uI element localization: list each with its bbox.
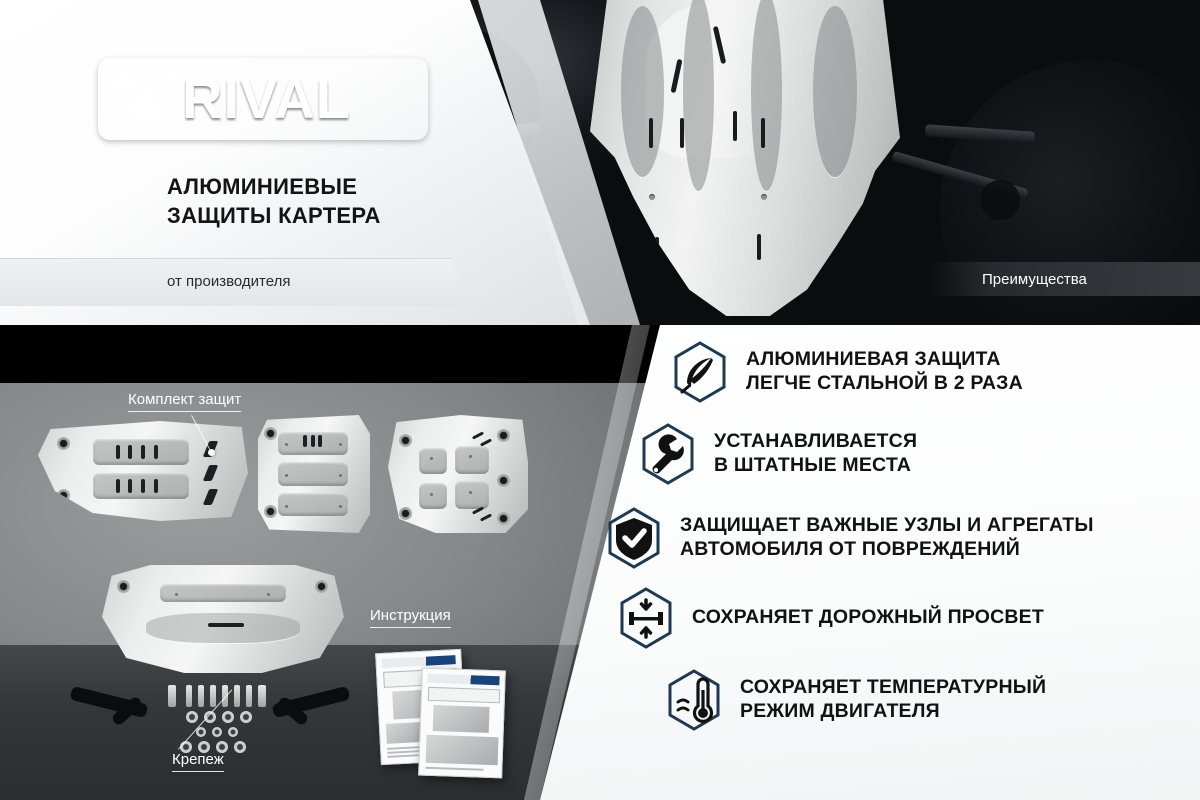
washer <box>228 727 238 737</box>
advantage-text: СОХРАНЯЕТ ДОРОЖНЫЙ ПРОСВЕТ <box>692 606 1044 630</box>
callout-fasteners: Крепеж <box>172 751 224 772</box>
bolt <box>234 685 240 707</box>
advantage-line1: СОХРАНЯЕТ ТЕМПЕРАТУРНЫЙ <box>740 676 1046 700</box>
advantage-line1: ЗАЩИЩАЕТ ВАЖНЫЕ УЗЛЫ И АГРЕГАТЫ <box>680 514 1094 538</box>
molecule-icon <box>110 66 184 132</box>
wheel-arch <box>940 60 1200 340</box>
washer <box>212 727 222 737</box>
page-title: АЛЮМИНИЕВЫЕ ЗАЩИТЫ КАРТЕРА <box>167 172 587 230</box>
advantages-badge: Преимущества <box>930 262 1200 296</box>
poster-canvas: Преимущества <box>0 0 1200 800</box>
callout-fasteners-label: Крепеж <box>172 751 224 772</box>
callout-instruction: Инструкция <box>370 607 451 628</box>
advantage-line1: АЛЮМИНИЕВАЯ ЗАЩИТА <box>746 348 1023 372</box>
washer <box>240 711 252 723</box>
callout-instruction-label: Инструкция <box>370 607 451 628</box>
advantage-text: ЗАЩИЩАЕТ ВАЖНЫЕ УЗЛЫ И АГРЕГАТЫ АВТОМОБИ… <box>680 514 1094 562</box>
advantage-line2: АВТОМОБИЛЯ ОТ ПОВРЕЖДЕНИЙ <box>680 538 1094 562</box>
advantage-line2: В ШТАТНЫЕ МЕСТА <box>714 454 917 478</box>
advantage-item: СОХРАНЯЕТ ТЕМПЕРАТУРНЫЙ РЕЖИМ ДВИГАТЕЛЯ <box>662 668 1195 732</box>
page-title-line1: АЛЮМИНИЕВЫЕ <box>167 172 587 201</box>
skid-plate-large <box>38 421 248 521</box>
rival-logo[interactable]: RIVAL <box>98 58 428 140</box>
advantage-line2: РЕЖИМ ДВИГАТЕЛЯ <box>740 700 1046 724</box>
advantage-text: СОХРАНЯЕТ ТЕМПЕРАТУРНЫЙ РЕЖИМ ДВИГАТЕЛЯ <box>740 676 1046 724</box>
advantage-line2: ЛЕГЧЕ СТАЛЬНОЙ В 2 РАЗА <box>746 372 1023 396</box>
advantage-item: АЛЮМИНИЕВАЯ ЗАЩИТА ЛЕГЧЕ СТАЛЬНОЙ В 2 РА… <box>668 340 1195 404</box>
thermometer-icon <box>662 668 726 732</box>
callout-kit-label: Комплект защит <box>128 391 241 412</box>
page-subtitle: от производителя <box>167 273 290 290</box>
advantage-line1: СОХРАНЯЕТ ДОРОЖНЫЙ ПРОСВЕТ <box>692 606 1044 630</box>
bolt <box>198 685 204 707</box>
ground-clearance-icon <box>614 586 678 650</box>
washer <box>222 711 234 723</box>
callout-kit-dot <box>208 449 215 456</box>
advantage-item: УСТАНАВЛИВАЕТСЯ В ШТАТНЫЕ МЕСТА <box>636 422 1195 486</box>
washer <box>234 741 246 753</box>
advantages-list: АЛЮМИНИЕВАЯ ЗАЩИТА ЛЕГЧЕ СТАЛЬНОЙ В 2 РА… <box>620 340 1195 746</box>
feather-icon <box>668 340 732 404</box>
bolt <box>258 685 266 707</box>
skid-plate-medium <box>258 415 370 533</box>
skid-plate-bottom <box>102 565 344 673</box>
washer <box>186 711 198 723</box>
bushing <box>980 180 1020 220</box>
bolt <box>246 685 252 707</box>
wrench-icon <box>636 422 700 486</box>
installed-skid-plate <box>590 0 900 316</box>
callout-kit: Комплект защит <box>128 391 241 412</box>
advantage-item: ЗАЩИЩАЕТ ВАЖНЫЕ УЗЛЫ И АГРЕГАТЫ АВТОМОБИ… <box>602 506 1195 570</box>
divider-black-band <box>0 325 660 385</box>
advantage-text: АЛЮМИНИЕВАЯ ЗАЩИТА ЛЕГЧЕ СТАЛЬНОЙ В 2 РА… <box>746 348 1023 396</box>
advantage-item: СОХРАНЯЕТ ДОРОЖНЫЙ ПРОСВЕТ <box>614 586 1195 650</box>
skid-plate-right <box>388 415 528 533</box>
shield-check-icon <box>602 506 666 570</box>
advantage-text: УСТАНАВЛИВАЕТСЯ В ШТАТНЫЕ МЕСТА <box>714 430 917 478</box>
instruction-sheet-front <box>418 668 506 779</box>
bolt <box>210 685 216 707</box>
advantage-line1: УСТАНАВЛИВАЕТСЯ <box>714 430 917 454</box>
bolt <box>186 685 192 707</box>
page-title-line2: ЗАЩИТЫ КАРТЕРА <box>167 201 587 230</box>
rival-logo-text: RIVAL <box>182 71 351 127</box>
bolt <box>168 685 176 707</box>
advantages-label: Преимущества <box>982 271 1087 288</box>
